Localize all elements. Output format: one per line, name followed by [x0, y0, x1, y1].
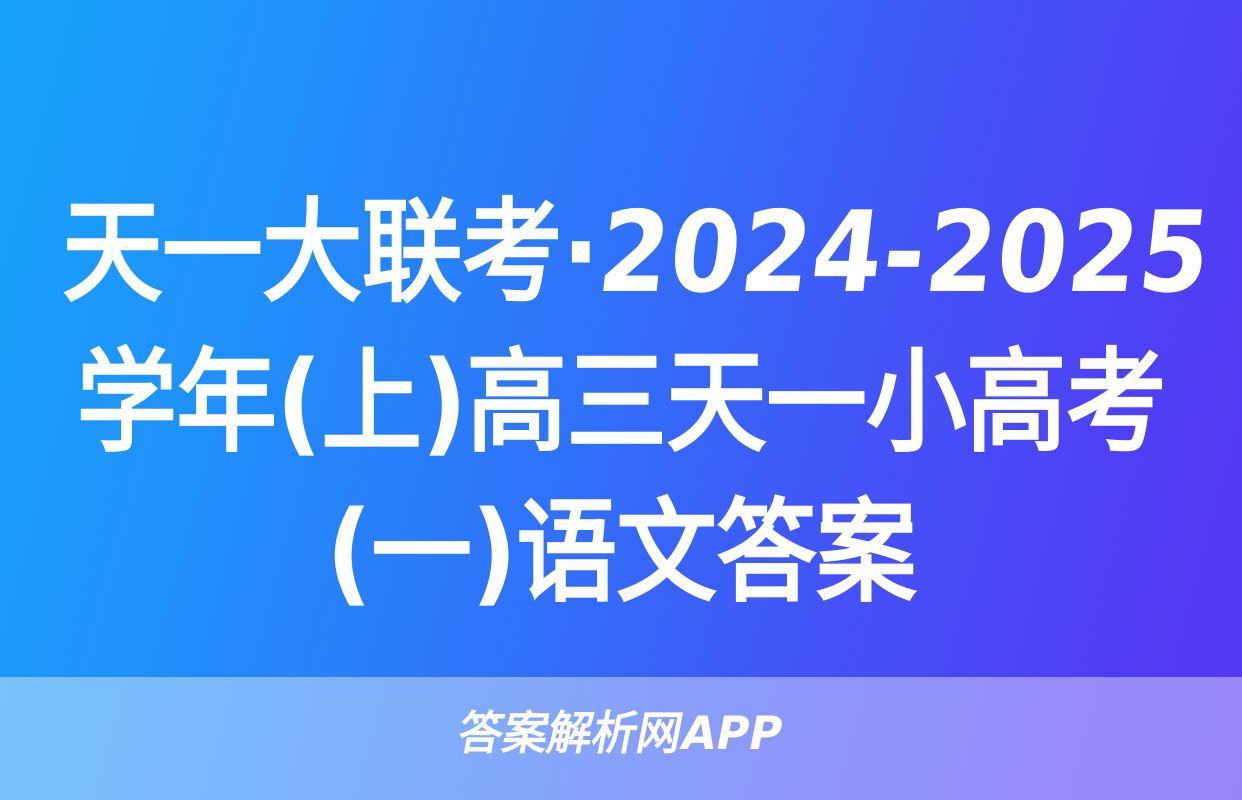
title-line-1-years: 2024-2025	[591, 178, 1219, 328]
footer-watermark-label: 答案解析网APP	[454, 705, 788, 761]
title-line-2: 学年(上)高三天一小高考	[62, 328, 1180, 478]
title-line-1-cjk: 天一大联考·	[62, 188, 599, 318]
footer-watermark: 答案解析网APP	[0, 705, 1242, 761]
title-line-3: (一)语文答案	[62, 478, 1180, 628]
page-title: 天一大联考·2024-2025 学年(上)高三天一小高考 (一)语文答案	[0, 178, 1242, 628]
title-line-1: 天一大联考·2024-2025	[62, 178, 1180, 328]
poster-canvas: 天一大联考·2024-2025 学年(上)高三天一小高考 (一)语文答案 答案解…	[0, 0, 1242, 800]
